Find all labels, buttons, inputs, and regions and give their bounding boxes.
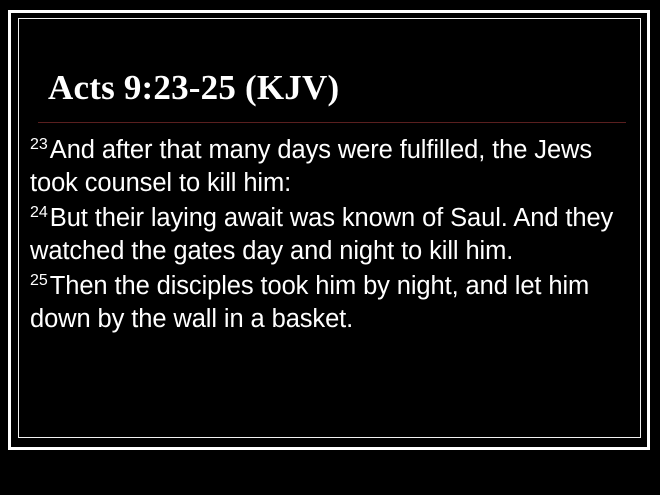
scripture-slide: Acts 9:23-25 (KJV) 23And after that many… (0, 0, 660, 495)
slide-content: Acts 9:23-25 (KJV) 23And after that many… (28, 28, 632, 428)
verse-paragraph: 24But their laying await was known of Sa… (30, 202, 616, 268)
title-divider (38, 122, 626, 123)
verse-number: 24 (30, 204, 50, 221)
verse-paragraph: 25Then the disciples took him by night, … (30, 270, 616, 336)
verse-number: 23 (30, 136, 50, 153)
page-title: Acts 9:23-25 (KJV) (48, 68, 339, 108)
verse-paragraph: 23And after that many days were fulfille… (30, 134, 616, 200)
verse-list: 23And after that many days were fulfille… (30, 134, 616, 338)
verse-text: Then the disciples took him by night, an… (30, 272, 589, 333)
verse-text: And after that many days were fulfilled,… (30, 136, 592, 197)
verse-number: 25 (30, 272, 50, 289)
verse-text: But their laying await was known of Saul… (30, 204, 613, 265)
